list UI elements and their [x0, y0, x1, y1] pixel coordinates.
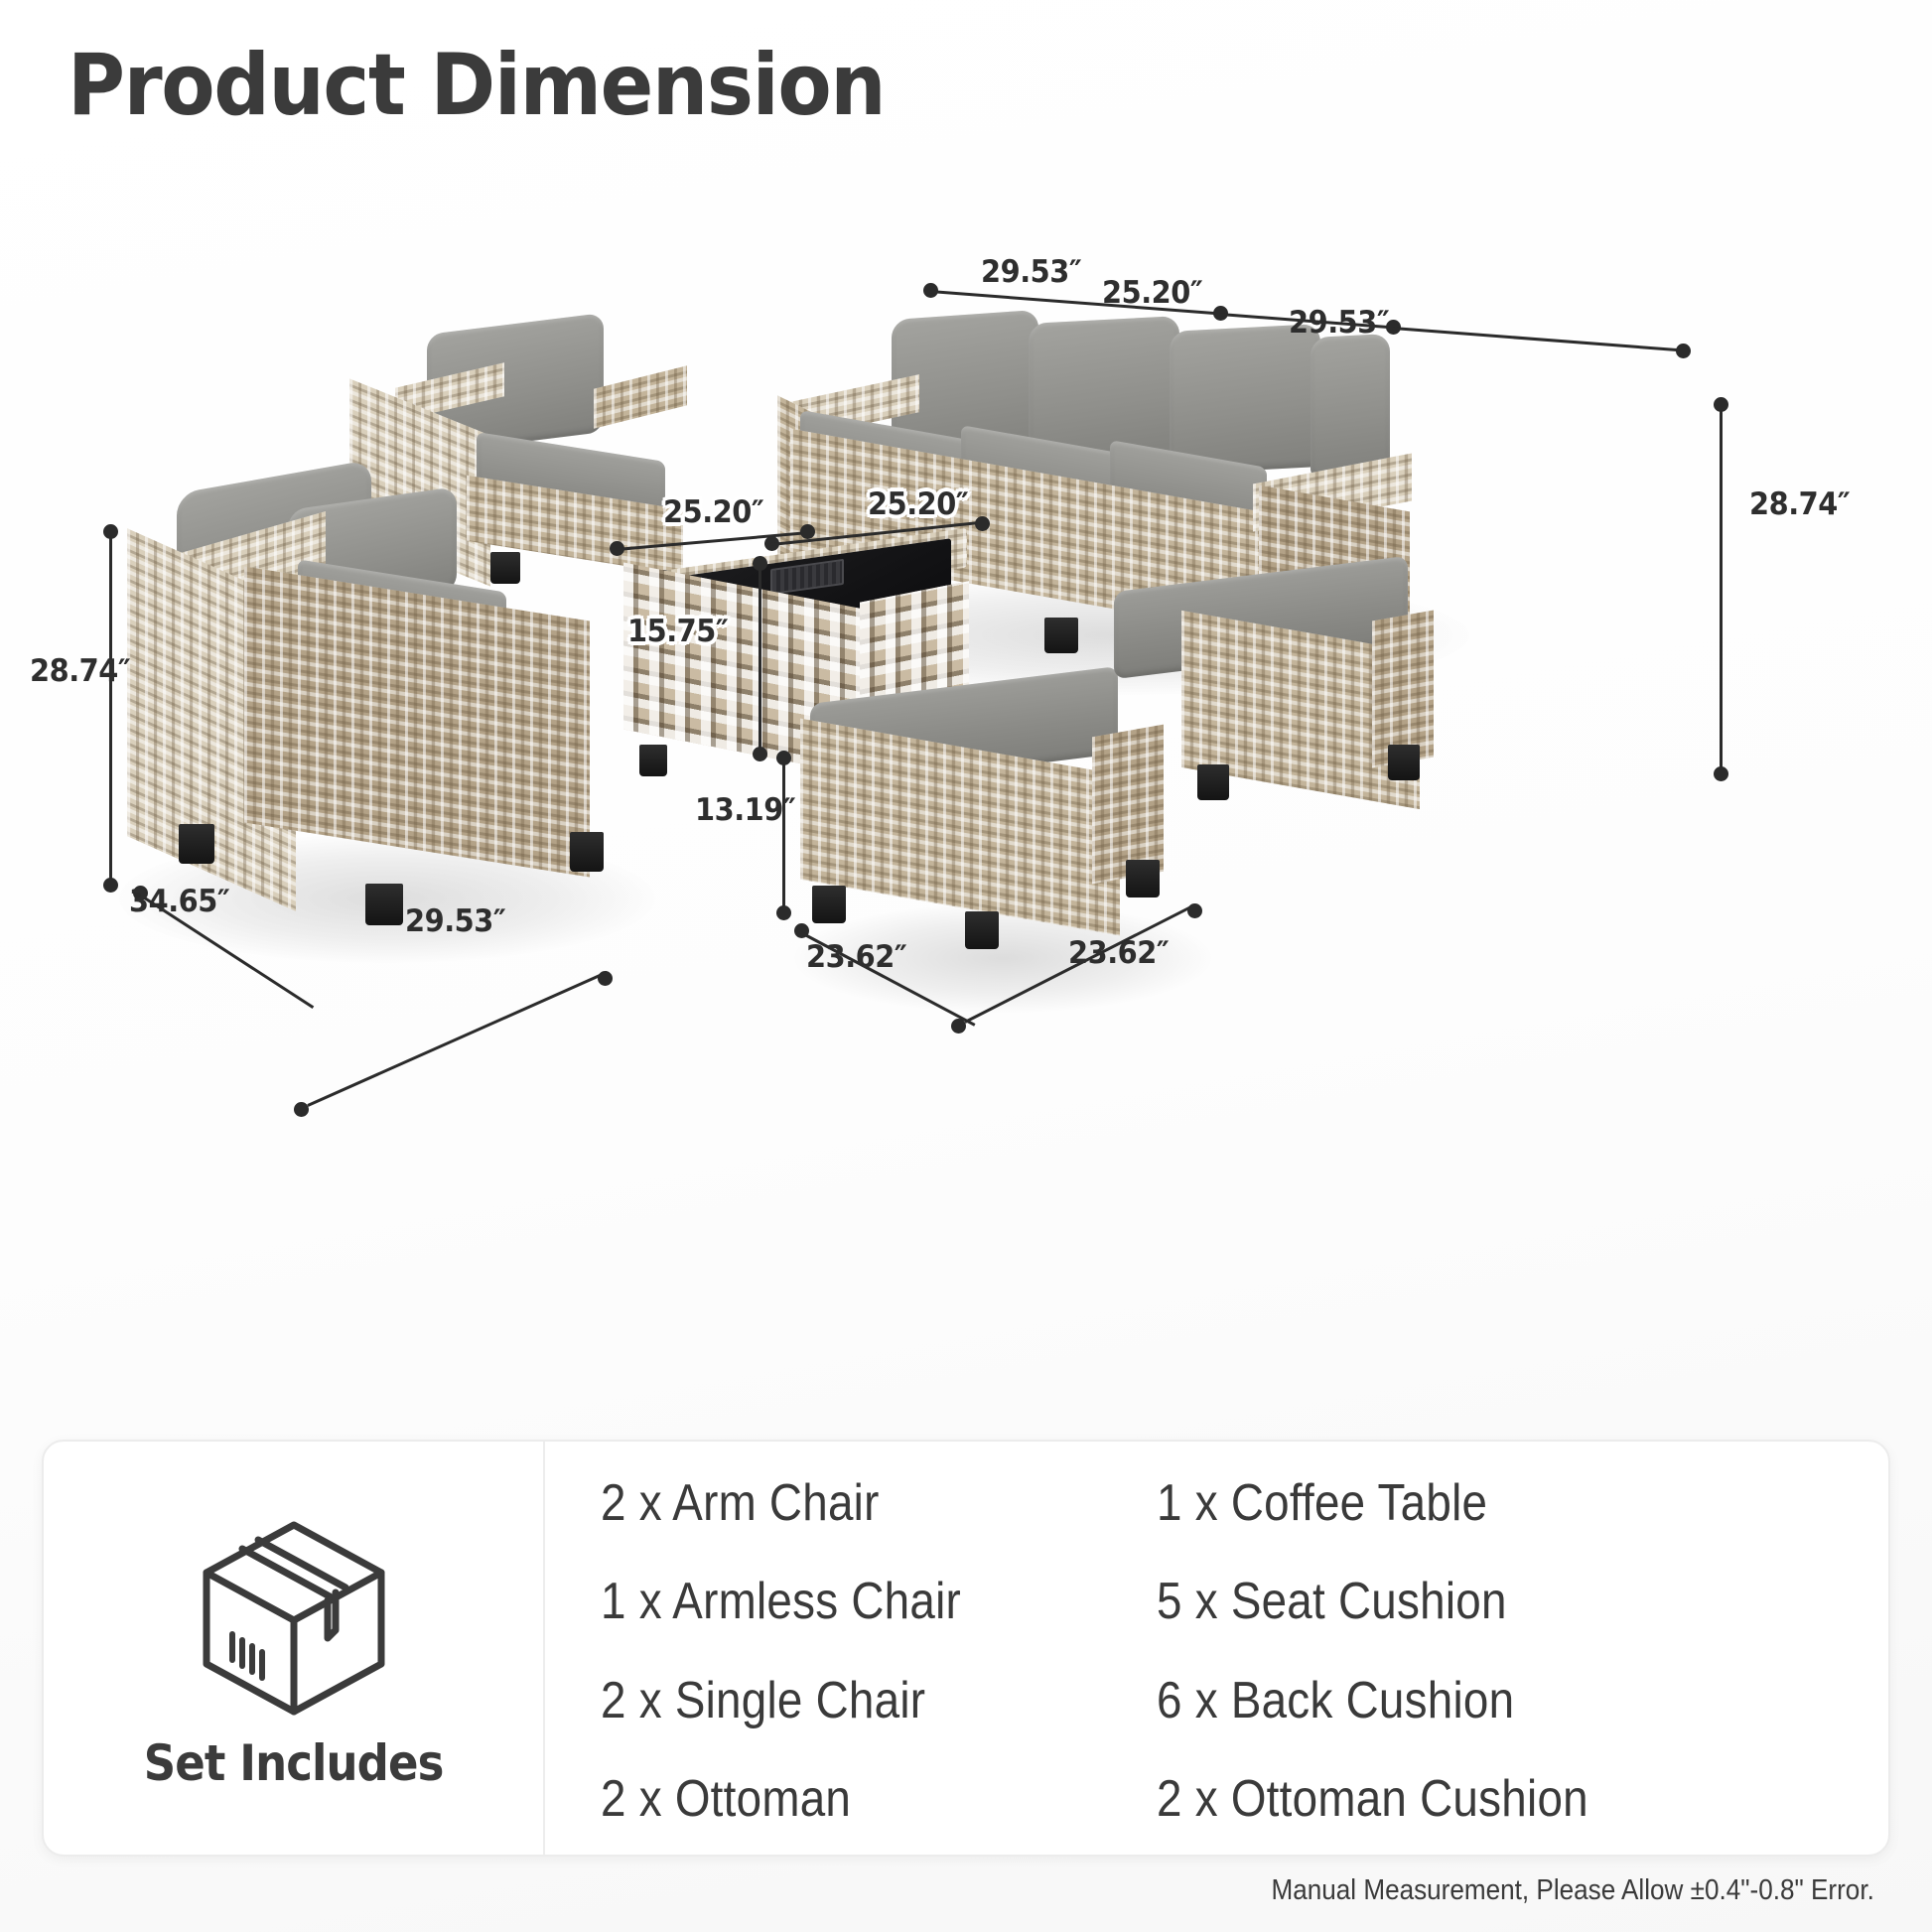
dim-label-ottoman-height: 13.19″	[695, 792, 795, 828]
list-item: 2 x Single Chair	[601, 1675, 1041, 1726]
ottoman-front-foot-mid	[965, 911, 999, 949]
arm-chair-foot-right	[570, 832, 604, 872]
dim-dot-ott-h-bottom	[776, 905, 791, 920]
list-item: 6 x Back Cushion	[1157, 1675, 1801, 1726]
sofa-back-cushion-3	[1170, 324, 1320, 475]
dim-label-chair-depth: 34.65″	[129, 884, 229, 919]
furniture-scene: 29.53″ 25.20″ 29.53″ 28.74″ 25.20″ 25.20…	[0, 149, 1932, 1430]
sofa-foot-center	[1044, 618, 1078, 653]
package-box-icon	[197, 1515, 391, 1725]
dim-dot-sofa-d	[1676, 344, 1691, 358]
page-title: Product Dimension	[68, 36, 885, 135]
list-item: 2 x Ottoman Cushion	[1157, 1773, 1801, 1825]
dim-dot-armless-b	[800, 524, 815, 539]
dim-line-sofa-right	[1393, 327, 1690, 352]
dim-label-ottoman-depth: 23.62″	[806, 939, 906, 975]
armless-chair-foot-left	[490, 552, 520, 584]
list-item: 2 x Ottoman	[601, 1773, 1041, 1825]
ottoman-right-foot-right	[1388, 745, 1420, 780]
dim-label-chair-height: 28.74″	[30, 653, 130, 689]
dim-label-chair-width: 29.53″	[405, 903, 505, 939]
dim-label-table-width: 25.20″	[868, 486, 968, 522]
dim-line-chair-height	[109, 532, 112, 886]
ottoman-front-foot-left	[812, 886, 846, 923]
set-includes-left: Set Includes	[44, 1442, 545, 1855]
ottoman-front-foot-right	[1126, 860, 1160, 897]
dim-dot-sofa-h-bottom	[1714, 766, 1728, 781]
dim-dot-table-b	[975, 516, 990, 531]
list-item: 2 x Arm Chair	[601, 1477, 1041, 1529]
armless-chair-right-arm	[594, 365, 687, 428]
dim-label-sofa-center-width: 25.20″	[1102, 275, 1202, 311]
product-dimension-infographic: Product Dimension	[0, 0, 1932, 1932]
coffee-table-foot-left	[639, 745, 667, 776]
dim-dot-ott-w-right	[1187, 903, 1202, 918]
dim-label-sofa-height: 28.74″	[1749, 486, 1850, 522]
dim-label-armless-width: 25.20″	[663, 494, 763, 530]
dim-label-sofa-right-width: 29.53″	[1289, 305, 1389, 341]
ottoman-right-foot-left	[1197, 764, 1229, 800]
dim-line-ottoman-height	[782, 759, 785, 911]
set-includes-column-left: 2 x Arm Chair 1 x Armless Chair 2 x Sing…	[545, 1477, 1101, 1825]
arm-chair-body-front	[244, 566, 590, 877]
dim-label-table-height: 15.75″	[627, 614, 728, 649]
dim-label-sofa-left-width: 29.53″	[981, 254, 1081, 290]
list-item: 5 x Seat Cushion	[1157, 1576, 1801, 1627]
set-includes-right: 2 x Arm Chair 1 x Armless Chair 2 x Sing…	[545, 1442, 1888, 1855]
sofa-back-cushion-right	[1311, 334, 1390, 479]
set-includes-panel: Set Includes 2 x Arm Chair 1 x Armless C…	[42, 1440, 1890, 1857]
set-includes-column-right: 1 x Coffee Table 5 x Seat Cushion 6 x Ba…	[1101, 1477, 1888, 1825]
dim-dot-chair-w-right	[598, 971, 613, 986]
dim-dot-table-h-bottom	[753, 747, 767, 761]
dim-dot-chair-h-bottom	[103, 878, 118, 893]
arm-chair-foot-front	[365, 884, 403, 925]
arm-chair-foot-left	[179, 824, 214, 864]
list-item: 1 x Coffee Table	[1157, 1477, 1801, 1529]
dim-line-table-height	[759, 564, 761, 755]
list-item: 1 x Armless Chair	[601, 1576, 1041, 1627]
dim-label-ottoman-width: 23.62″	[1068, 935, 1169, 971]
measurement-disclaimer: Manual Measurement, Please Allow ±0.4"-0…	[1272, 1874, 1874, 1907]
dim-line-chair-width	[307, 971, 608, 1107]
dim-line-sofa-height	[1720, 405, 1723, 774]
set-includes-heading: Set Includes	[144, 1734, 444, 1792]
